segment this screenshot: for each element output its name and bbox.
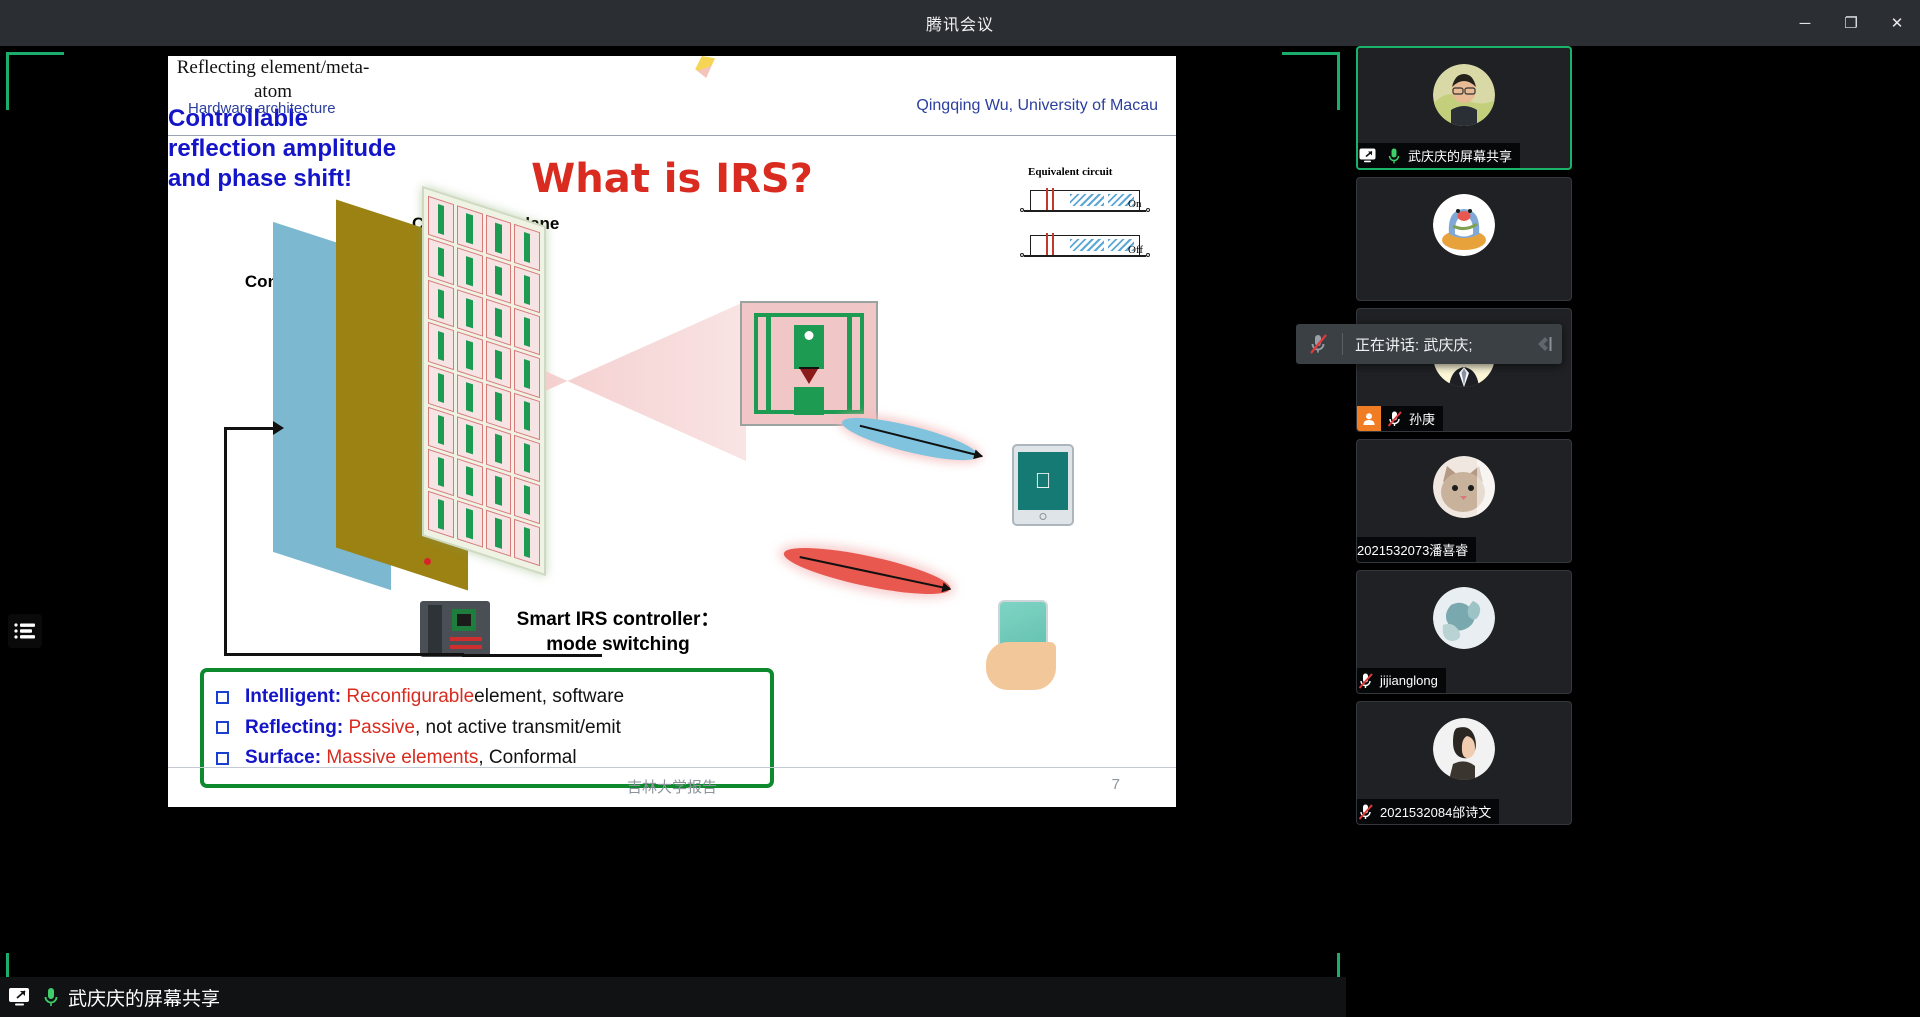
slide-header-topic: Hardware architecture bbox=[188, 100, 336, 117]
maximize-icon: ❐ bbox=[1844, 14, 1857, 32]
avatar bbox=[1433, 64, 1495, 126]
participant-tile-taishiwen[interactable]: 2021532084邰诗文 bbox=[1356, 701, 1572, 825]
window-controls: ─ ❐ ✕ bbox=[1782, 0, 1920, 46]
meta-atom-closeup bbox=[740, 301, 878, 426]
avatar bbox=[1433, 587, 1495, 649]
participant-label-bar: 2021532084邰诗文 bbox=[1357, 799, 1499, 824]
maximize-button[interactable]: ❐ bbox=[1828, 0, 1874, 46]
mic-muted-icon bbox=[1296, 333, 1342, 355]
slide-page-number: 7 bbox=[1112, 776, 1120, 793]
bullet-rest: , not active transmit/emit bbox=[415, 717, 621, 740]
overlay-divider bbox=[1342, 333, 1343, 355]
bullet-keyword: Reflecting: bbox=[245, 717, 343, 740]
screen-share-icon bbox=[1358, 143, 1380, 168]
presentation-slide: Hardware architecture Qingqing Wu, Unive… bbox=[168, 56, 1176, 807]
list-view-icon bbox=[14, 622, 36, 640]
slide-list-button[interactable] bbox=[8, 614, 42, 648]
mic-unmuted-icon bbox=[42, 986, 60, 1008]
shared-screen-stage: Hardware architecture Qingqing Wu, Unive… bbox=[0, 46, 1346, 1017]
participant-tile-penguin[interactable] bbox=[1356, 177, 1572, 301]
slide-footer: 吉林大学报告 7 bbox=[168, 767, 1176, 807]
participant-name: 孙庚 bbox=[1409, 409, 1435, 428]
avatar bbox=[1433, 456, 1495, 518]
controller-connector-line bbox=[224, 428, 464, 656]
participant-name: 2021532084邰诗文 bbox=[1380, 802, 1491, 821]
avatar bbox=[1433, 718, 1495, 780]
participant-label-bar: 2021532073潘喜睿 bbox=[1357, 537, 1476, 562]
checkbox-bullet-icon bbox=[216, 721, 229, 734]
mic-muted-icon bbox=[1386, 406, 1404, 431]
label-circuit-on: On bbox=[1128, 198, 1141, 210]
participant-label-bar: 武庆庆的屏幕共享 bbox=[1358, 143, 1520, 168]
participant-name: 2021532073潘喜睿 bbox=[1357, 540, 1468, 559]
label-smart-irs-controller: Smart IRS controller：mode switching bbox=[498, 608, 738, 657]
tablet-device-icon:  bbox=[1012, 444, 1074, 526]
host-badge-icon bbox=[1357, 406, 1381, 431]
mic-muted-icon bbox=[1357, 799, 1375, 824]
participant-tile-panxirui[interactable]: 2021532073潘喜睿 bbox=[1356, 439, 1572, 563]
bullet-emphasis: Reconfigurable bbox=[346, 686, 474, 709]
participant-list: 武庆庆的屏幕共享 bbox=[1356, 46, 1572, 832]
mic-unmuted-icon bbox=[1385, 143, 1403, 168]
slide-footer-text: 吉林大学报告 bbox=[168, 776, 1176, 797]
bullet-keyword: Intelligent: bbox=[245, 686, 341, 709]
minimize-icon: ─ bbox=[1800, 15, 1811, 32]
zoom-callout-cone bbox=[546, 301, 746, 461]
slide-header-author: Qingqing Wu, University of Macau bbox=[916, 97, 1158, 115]
participant-label-bar: jijianglong bbox=[1357, 668, 1446, 693]
label-circuit-off: Off bbox=[1128, 244, 1143, 256]
slide-header: Hardware architecture Qingqing Wu, Unive… bbox=[168, 94, 1176, 136]
slide-decoration-mark bbox=[693, 56, 715, 78]
controller-connector-line-right bbox=[462, 654, 602, 657]
speaking-indicator-overlay[interactable]: 正在讲话: 武庆庆; bbox=[1296, 324, 1562, 364]
minimize-button[interactable]: ─ bbox=[1782, 0, 1828, 46]
participant-rail: 武庆庆的屏幕共享 bbox=[1346, 46, 1920, 1017]
mic-muted-icon bbox=[1357, 668, 1375, 693]
window-title: 腾讯会议 bbox=[926, 11, 994, 35]
participant-label-bar: 孙庚 bbox=[1357, 406, 1443, 431]
bullet-item-reflecting: Reflecting: Passive , not active transmi… bbox=[216, 717, 758, 740]
bullet-rest: element, software bbox=[474, 686, 624, 709]
participant-tile-wuqingqing-share[interactable]: 武庆庆的屏幕共享 bbox=[1356, 46, 1572, 170]
close-icon: ✕ bbox=[1891, 14, 1904, 32]
participant-name: jijianglong bbox=[1380, 673, 1438, 688]
avatar bbox=[1433, 194, 1495, 256]
bullet-emphasis: Passive bbox=[348, 717, 415, 740]
chevron-collapse-icon[interactable] bbox=[1530, 332, 1556, 356]
hand-icon bbox=[986, 642, 1056, 690]
screen-share-icon bbox=[8, 987, 34, 1007]
checkbox-bullet-icon bbox=[216, 752, 229, 765]
close-button[interactable]: ✕ bbox=[1874, 0, 1920, 46]
share-frame-corner-tr bbox=[1282, 52, 1340, 110]
speaking-text: 正在讲话: 武庆庆; bbox=[1355, 334, 1473, 355]
bullet-item-intelligent: Intelligent: Reconfigurable element, sof… bbox=[216, 686, 758, 709]
share-status-text: 武庆庆的屏幕共享 bbox=[68, 984, 220, 1011]
participant-tile-jijianglong[interactable]: jijianglong bbox=[1356, 570, 1572, 694]
checkbox-bullet-icon bbox=[216, 691, 229, 704]
pin-diode-icon bbox=[800, 369, 818, 384]
share-frame-corner-tl bbox=[6, 52, 64, 110]
label-equivalent-circuit: Equivalent circuit bbox=[1028, 166, 1112, 178]
participant-name: 武庆庆的屏幕共享 bbox=[1408, 146, 1512, 165]
share-status-bar: 武庆庆的屏幕共享 bbox=[0, 977, 1346, 1017]
window-titlebar: 腾讯会议 ─ ❐ ✕ bbox=[0, 0, 1920, 46]
